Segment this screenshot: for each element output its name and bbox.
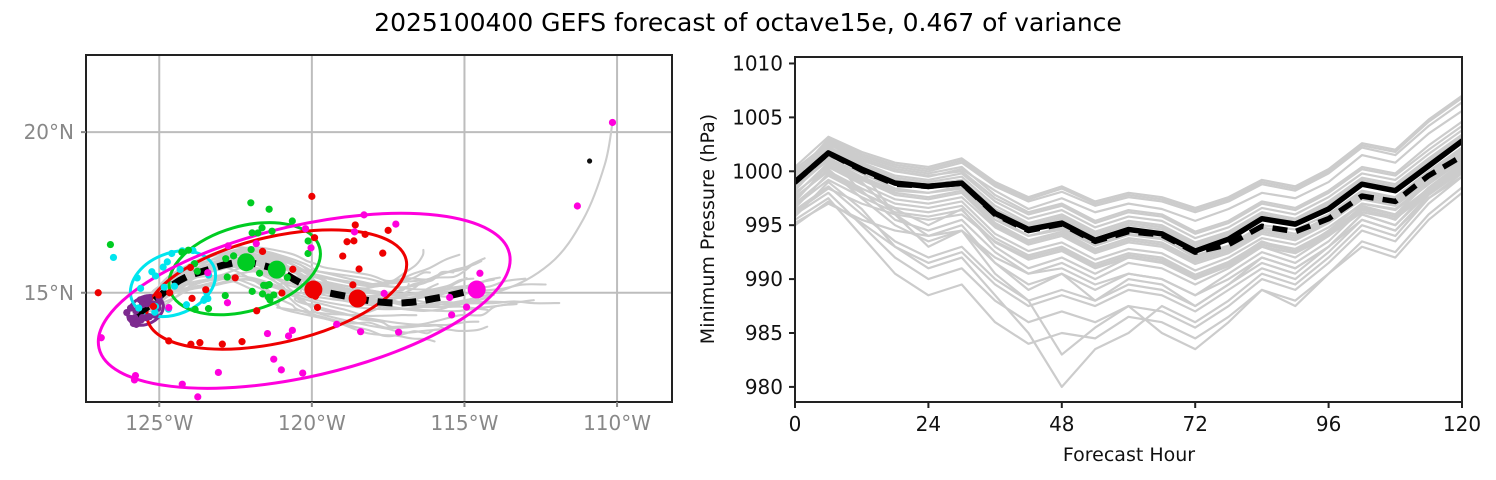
member-position-dot [135,304,142,311]
mean-position-72h [304,281,322,299]
member-position-dot [355,265,362,272]
member-position-dot [107,241,114,248]
member-position-dot [127,315,134,322]
pressure-xaxis-label: Forecast Hour [1063,444,1195,466]
member-position-dot [357,328,364,335]
member-position-dot [225,242,232,249]
member-position-dot [247,199,254,206]
member-position-dot [134,319,141,326]
member-position-dot [362,231,369,238]
member-position-dot [339,252,346,259]
member-position-dot [270,356,277,363]
pressure-ytick-label: 980 [745,375,783,399]
member-position-dot [204,269,211,276]
member-position-dot [183,301,190,308]
map-tick-labels: 125°W120°W115°W110°W20°N15°N [24,120,652,435]
member-position-dot [395,329,402,336]
member-position-dot [476,270,483,277]
pressure-xtick-label: 72 [1182,412,1207,436]
member-position-dot [222,255,229,262]
member-position-dot [385,227,392,234]
track-map-panel: 125°W120°W115°W110°W20°N15°N [24,55,672,435]
member-position-dot [314,304,321,311]
mean-position-48h [237,253,255,271]
member-position-dot [177,266,184,273]
member-position-dot [260,282,267,289]
member-position-dot [98,334,105,341]
member-position-dot [360,211,367,218]
member-position-dot [259,290,266,297]
member-position-dot [307,244,314,251]
member-position-dot [168,250,175,257]
pressure-xtick-label: 96 [1316,412,1341,436]
member-position-dot [350,237,357,244]
map-gridlines [86,55,672,402]
member-position-dot [266,296,273,303]
member-position-dot [150,303,157,310]
member-position-dot [202,286,209,293]
member-position-dot [224,299,231,306]
member-position-dot [448,311,455,318]
member-position-dot [232,274,239,281]
verification-marker-dot [587,158,592,163]
mean-position-120h [468,281,486,299]
map-lon-tick-label: 120°W [278,411,346,435]
member-position-dot [308,193,315,200]
member-position-dot [222,292,229,299]
member-position-dot [259,248,266,255]
member-position-dot [352,221,359,228]
member-position-dot [253,307,260,314]
member-position-dot [254,229,261,236]
member-position-dot [305,237,312,244]
map-lat-tick-label: 20°N [24,120,74,144]
member-position-dot [351,228,358,235]
pressure-ytick-label: 990 [745,267,783,291]
member-position-dot [343,238,350,245]
member-position-dot [278,366,285,373]
member-position-dot [349,281,356,288]
member-position-dot [165,304,172,311]
member-position-dot [311,234,318,241]
member-position-dot [278,289,285,296]
map-lon-tick-label: 125°W [125,411,193,435]
pressure-ytick-label: 1010 [732,51,783,75]
member-position-dot [179,381,186,388]
member-position-dot [187,264,194,271]
member-position-dot [178,249,185,256]
figure-canvas: 125°W120°W115°W110°W20°N15°N 02448729612… [0,0,1496,480]
member-position-dot [160,264,167,271]
member-position-dot [392,220,399,227]
member-position-dot [219,341,226,348]
member-position-dot [289,217,296,224]
member-position-dot [188,295,195,302]
member-position-dot [215,369,222,376]
map-lon-tick-label: 110°W [583,411,651,435]
member-position-dot [148,268,155,275]
member-position-dot [131,376,138,383]
mean-position-54h [268,261,286,279]
member-position-dot [249,288,256,295]
member-position-dot [299,369,306,376]
member-position-dot [381,290,388,297]
member-position-dot [284,274,291,281]
member-position-dot [224,273,231,280]
pressure-ytick-label: 1000 [732,159,783,183]
pressure-xtick-label: 120 [1443,412,1481,436]
member-position-dot [191,306,198,313]
member-position-dot [134,274,141,281]
pressure-yaxis-label: Minimum Pressure (hPa) [697,114,719,344]
pressure-xtick-label: 24 [916,412,941,436]
member-position-dot [194,268,201,275]
member-position-dot [289,266,296,273]
member-position-dot [165,337,172,344]
member-position-dot [379,250,386,257]
member-position-dot [264,330,271,337]
pressure-panel: 024487296120980985990995100010051010 For… [697,51,1481,466]
member-position-dot [187,341,194,348]
member-position-dot [166,289,173,296]
member-position-dot [185,247,192,254]
pressure-ytick-label: 995 [745,213,783,237]
member-position-dots [95,119,616,401]
pressure-xtick-label: 48 [1049,412,1074,436]
member-position-dot [171,283,178,290]
forecast-figure: 2025100400 GEFS forecast of octave15e, 0… [0,0,1496,480]
member-position-dot [95,289,102,296]
member-position-dot [266,206,273,213]
member-position-dot [205,305,212,312]
pressure-ytick-label: 985 [745,321,783,345]
member-position-dot [230,252,237,259]
pressure-xtick-label: 0 [789,412,802,436]
member-position-dot [268,228,275,235]
map-lat-tick-label: 15°N [24,281,74,305]
member-position-dot [161,284,168,291]
member-position-dot [302,225,309,232]
member-position-dot [609,119,616,126]
member-position-dot [285,332,292,339]
member-position-dot [194,393,201,400]
member-position-dot [333,321,340,328]
member-position-dot [463,303,470,310]
member-position-dot [123,309,130,316]
member-position-dot [155,291,162,298]
member-position-dot [238,338,245,345]
map-lon-tick-label: 115°W [430,411,498,435]
member-position-dot [137,285,144,292]
member-position-dot [253,240,260,247]
member-position-dot [196,339,203,346]
member-position-dot [143,294,150,301]
member-position-dot [446,294,453,301]
pressure-ytick-label: 1005 [732,105,783,129]
map-axes-frame [86,55,672,402]
member-position-dot [248,246,255,253]
member-position-dot [574,202,581,209]
pressure-member-lines [795,96,1462,387]
page-title: 2025100400 GEFS forecast of octave15e, 0… [0,8,1496,37]
member-position-dot [256,270,263,277]
mean-position-78h [349,290,367,308]
member-position-dot [110,254,117,261]
